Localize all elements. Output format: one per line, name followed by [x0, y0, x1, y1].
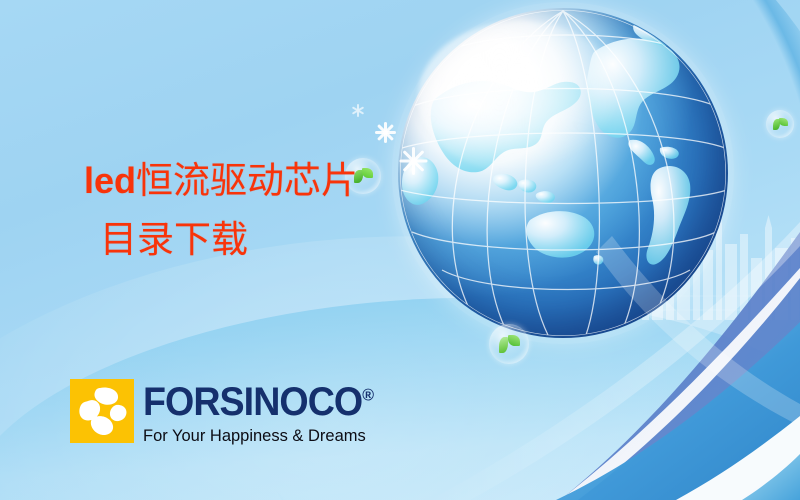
headline-line-2: 目录下载 — [100, 217, 358, 264]
headline-cjk: 恒流驱动芯片 — [136, 161, 358, 202]
leaf-bubble-2 — [489, 324, 529, 364]
leaf-icon — [499, 337, 508, 353]
brand-name: FORSINOCO® — [143, 382, 374, 422]
leaf-icon — [362, 168, 373, 178]
promo-banner: led恒流驱动芯片 目录下载 FORSINOCO® For Your Happi… — [0, 0, 800, 500]
four-petal-pinwheel-icon — [70, 379, 134, 443]
leaf-bubble-3 — [766, 110, 794, 138]
headline-text: led恒流驱动芯片 目录下载 — [84, 158, 358, 265]
brand-tagline: For Your Happiness & Dreams — [143, 427, 381, 444]
logo-wordmark: FORSINOCO® For Your Happiness & Dreams — [143, 379, 389, 444]
registered-trademark-icon: ® — [362, 386, 374, 405]
leaf-icon — [779, 118, 788, 126]
brand-name-text: FORSINOCO — [143, 380, 362, 424]
headline-latin: led — [84, 160, 136, 201]
sparkle-flower-1 — [375, 122, 395, 142]
sparkle-flower-3 — [352, 106, 364, 118]
leaf-icon — [508, 335, 520, 346]
headline-line-1: led恒流驱动芯片 — [84, 158, 358, 205]
sparkle-flower-2 — [400, 146, 426, 172]
company-logo: FORSINOCO® For Your Happiness & Dreams — [70, 379, 389, 444]
